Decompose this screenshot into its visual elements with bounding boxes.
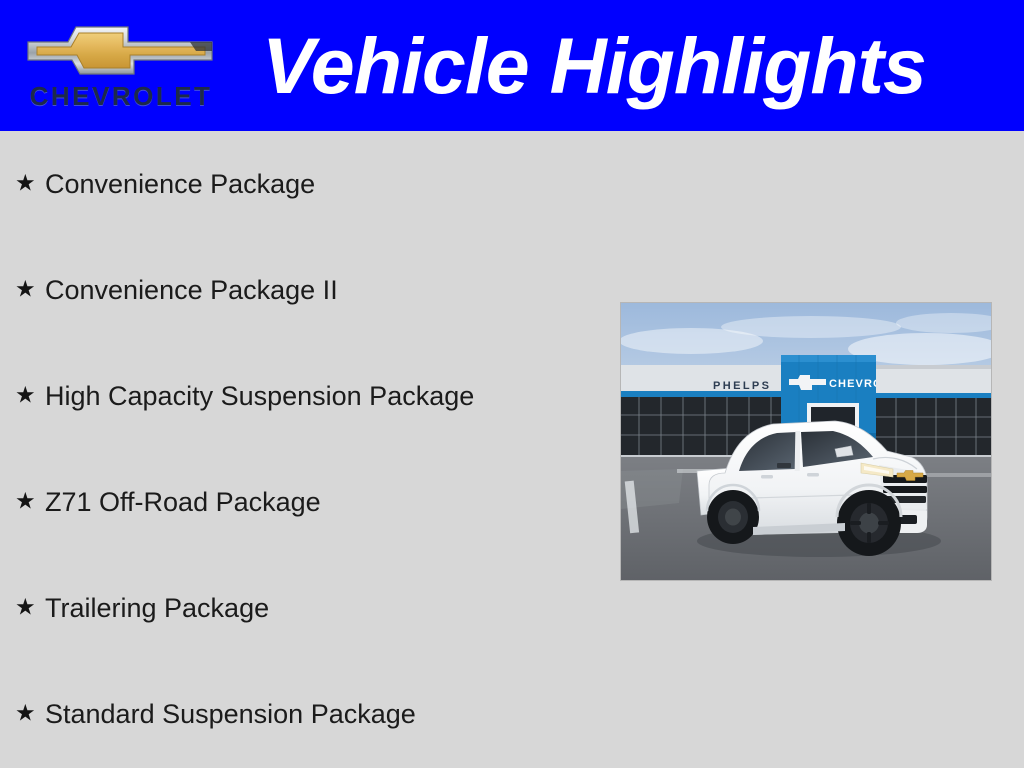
star-bullet-icon: ★ xyxy=(15,173,36,196)
list-item-label: High Capacity Suspension Package xyxy=(45,380,474,412)
list-item: ★ Trailering Package xyxy=(0,555,610,661)
list-item: ★ Convenience Package xyxy=(0,131,610,237)
header-bar: CHEVROLET Vehicle Highlights xyxy=(0,0,1024,131)
chevrolet-bowtie-icon xyxy=(24,20,216,80)
list-item: ★ Standard Suspension Package xyxy=(0,661,610,767)
list-item-label: Convenience Package xyxy=(45,168,315,200)
vehicle-photo: PHELPS CHEVROLET xyxy=(621,303,991,580)
chevrolet-wordmark: CHEVROLET xyxy=(26,82,216,110)
star-bullet-icon: ★ xyxy=(15,703,36,726)
star-bullet-icon: ★ xyxy=(15,597,36,620)
list-item-label: Z71 Off-Road Package xyxy=(45,486,321,518)
vehicle-highlights-list: ★ Convenience Package ★ Convenience Pack… xyxy=(0,131,610,767)
list-item-label: Trailering Package xyxy=(45,592,269,624)
chevrolet-logo: CHEVROLET xyxy=(22,14,218,114)
star-bullet-icon: ★ xyxy=(15,491,36,514)
slide-root: CHEVROLET Vehicle Highlights ★ Convenien… xyxy=(0,0,1024,768)
list-item: ★ Convenience Package II xyxy=(0,237,610,343)
list-item-label: Standard Suspension Package xyxy=(45,698,416,730)
star-bullet-icon: ★ xyxy=(15,279,36,302)
star-bullet-icon: ★ xyxy=(15,385,36,408)
list-item-label: Convenience Package II xyxy=(45,274,338,306)
svg-text:PHELPS: PHELPS xyxy=(713,380,771,392)
list-item: ★ Z71 Off-Road Package xyxy=(0,449,610,555)
vehicle-photo-image: PHELPS CHEVROLET xyxy=(621,303,991,580)
page-title: Vehicle Highlights xyxy=(262,12,1002,120)
list-item: ★ High Capacity Suspension Package xyxy=(0,343,610,449)
